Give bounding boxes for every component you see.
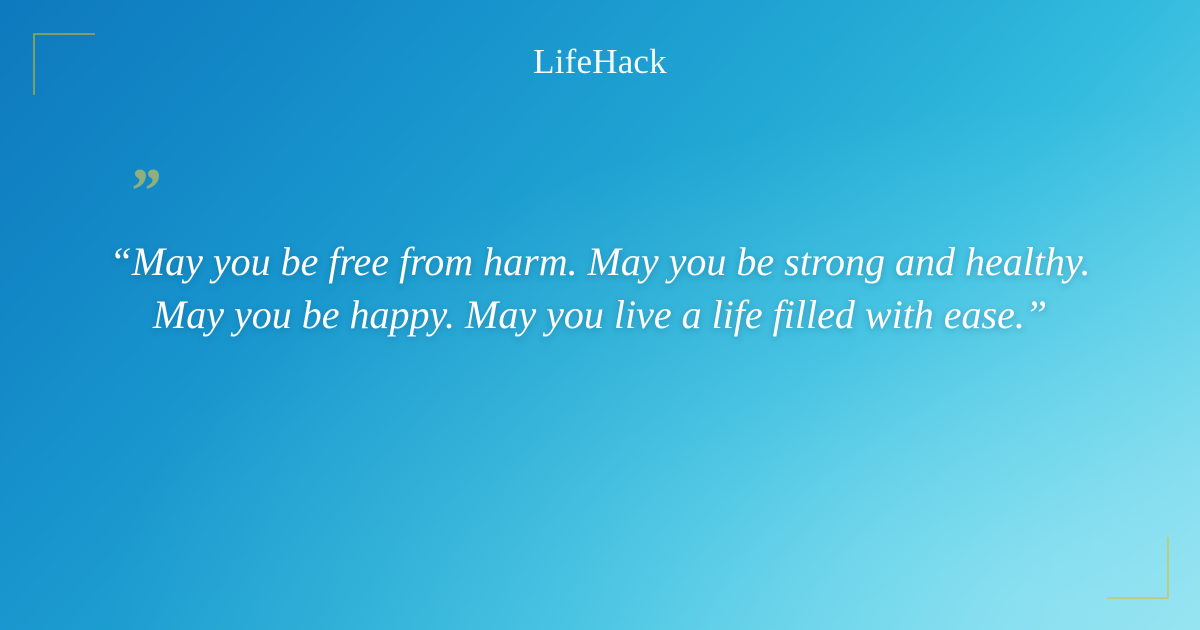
- quote-block: ” “May you be free from harm. May you be…: [100, 165, 1100, 341]
- quote-mark-icon: ”: [128, 165, 1100, 217]
- quote-card: LifeHack ” “May you be free from harm. M…: [0, 0, 1200, 630]
- brand-logo: LifeHack: [0, 42, 1200, 82]
- corner-bracket-bottom-right-icon: [1107, 537, 1169, 599]
- quote-text: “May you be free from harm. May you be s…: [100, 235, 1100, 341]
